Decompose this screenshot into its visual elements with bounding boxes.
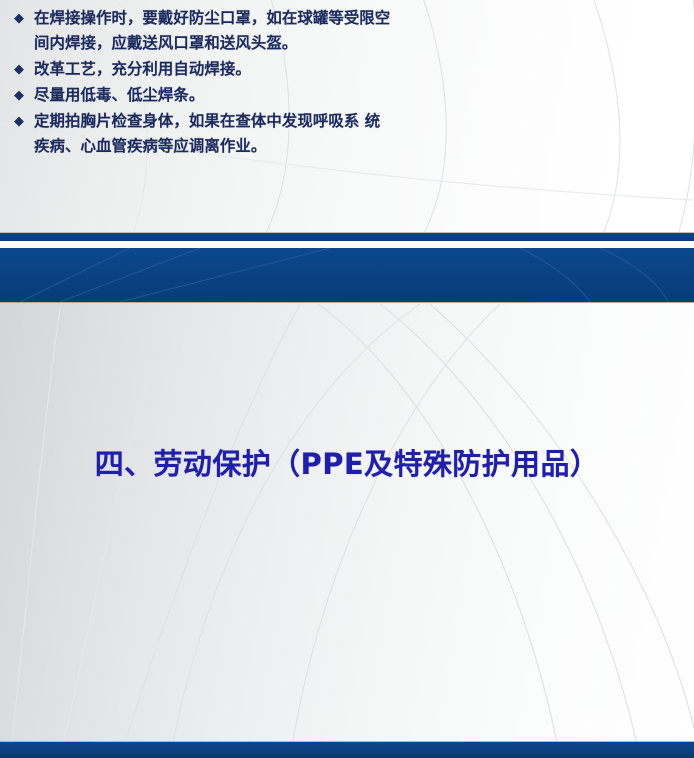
background-arcs-slide-2 [0,248,694,758]
diamond-bullet-icon: ◆ [11,109,34,134]
bullet-item-4: ◆ 定期拍胸片检查身体，如果在查体中发现呼吸系 统 疾病、心血管疾病等应调离作业… [11,109,611,159]
header-band-arcs [0,248,694,302]
slide-1: ◆ 在焊接操作时，要戴好防尘口罩，如在球罐等受限空 间内焊接，应戴送风口罩和送风… [0,0,694,241]
bullet-item-2-text: 改革工艺，充分利用自动焊接。 [34,57,611,82]
bullet-item-3: ◆ 尽量用低毒、低尘焊条。 [11,83,611,108]
bullet-item-2: ◆ 改革工艺，充分利用自动焊接。 [11,57,611,82]
slide-2-title: 四、劳动保护（PPE及特殊防护用品） [0,444,694,484]
bullet-item-4-text: 定期拍胸片检查身体，如果在查体中发现呼吸系 统 疾病、心血管疾病等应调离作业。 [34,109,611,159]
bullet-list: ◆ 在焊接操作时，要戴好防尘口罩，如在球罐等受限空 间内焊接，应戴送风口罩和送风… [11,6,611,160]
slide-deck: ◆ 在焊接操作时，要戴好防尘口罩，如在球罐等受限空 间内焊接，应戴送风口罩和送风… [0,0,694,758]
slide-separator [0,241,694,248]
bullet-item-1-text: 在焊接操作时，要戴好防尘口罩，如在球罐等受限空 间内焊接，应戴送风口罩和送风头盔… [34,6,611,56]
diamond-bullet-icon: ◆ [11,6,34,31]
diamond-bullet-icon: ◆ [11,83,34,108]
slide-2-header-band [0,248,694,303]
bullet-item-1: ◆ 在焊接操作时，要戴好防尘口罩，如在球罐等受限空 间内焊接，应戴送风口罩和送风… [11,6,611,56]
bullet-item-3-text: 尽量用低毒、低尘焊条。 [34,83,611,108]
slide-2-footer-bar [0,741,694,758]
diamond-bullet-icon: ◆ [11,57,34,82]
slide-2: 四、劳动保护（PPE及特殊防护用品） [0,248,694,758]
